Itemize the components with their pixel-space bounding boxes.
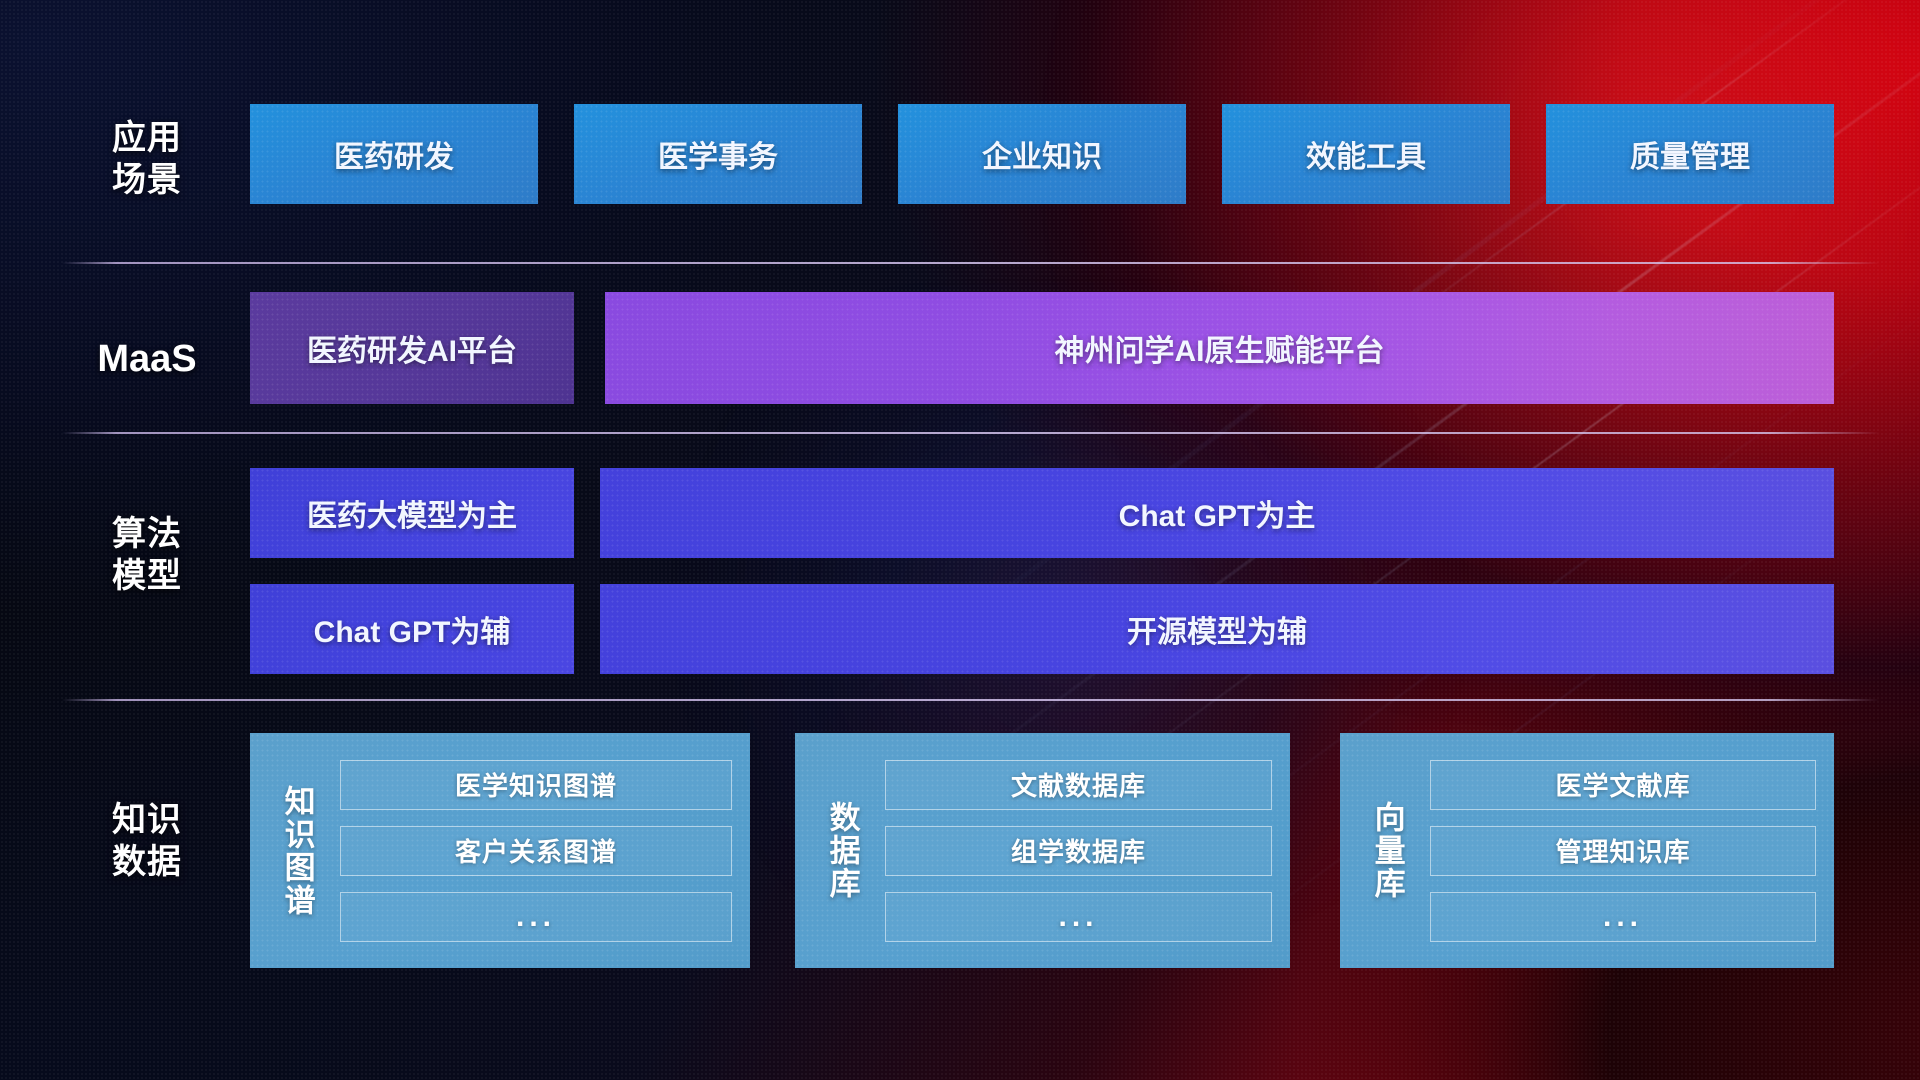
divider-application-maas [62, 262, 1880, 264]
row-label-application: 应用 场景 [62, 117, 232, 201]
row-label-line: 数据 [62, 841, 232, 883]
app-box-label: 医药研发 [334, 132, 454, 176]
architecture-diagram: 应用 场景 医药研发 医学事务 企业知识 效能工具 质量管理 MaaS 医药研发… [0, 0, 1920, 1080]
app-box-label: 质量管理 [1630, 132, 1750, 176]
maas-box-medicine-ai-platform[interactable]: 医药研发AI平台 [250, 292, 574, 404]
knowledge-item-more[interactable]: ... [1430, 892, 1816, 942]
app-box-label: 医学事务 [658, 132, 778, 176]
row-label-line: 知识 [62, 799, 232, 841]
row-label-algorithm: 算法 模型 [62, 513, 232, 597]
knowledge-item-more[interactable]: ... [885, 892, 1272, 942]
maas-box-shenzhou-platform[interactable]: 神州问学AI原生赋能平台 [605, 292, 1834, 404]
algo-box-label: Chat GPT为辅 [314, 607, 511, 651]
knowledge-group-knowledge-graph[interactable]: 知识图谱 医学知识图谱 客户关系图谱 ... [250, 733, 750, 968]
app-box-enterprise-knowledge[interactable]: 企业知识 [898, 104, 1186, 204]
algo-box-label: Chat GPT为主 [1119, 491, 1316, 535]
knowledge-group-items: 医学文献库 管理知识库 ... [1430, 747, 1816, 954]
knowledge-group-database[interactable]: 数据库 文献数据库 组学数据库 ... [795, 733, 1290, 968]
algo-box-opensource-secondary[interactable]: 开源模型为辅 [600, 584, 1834, 674]
knowledge-group-vector-store[interactable]: 向量库 医学文献库 管理知识库 ... [1340, 733, 1834, 968]
row-label-line: 应用 [62, 117, 232, 159]
app-box-medicine-rd[interactable]: 医药研发 [250, 104, 538, 204]
row-label-line: 模型 [62, 555, 232, 597]
app-box-efficiency-tools[interactable]: 效能工具 [1222, 104, 1510, 204]
knowledge-item[interactable]: 医学文献库 [1430, 760, 1816, 810]
maas-box-label: 医药研发AI平台 [307, 326, 517, 370]
knowledge-item[interactable]: 客户关系图谱 [340, 826, 732, 876]
knowledge-item[interactable]: 医学知识图谱 [340, 760, 732, 810]
row-label-maas: MaaS [62, 336, 232, 383]
knowledge-group-items: 文献数据库 组学数据库 ... [885, 747, 1272, 954]
algo-box-medicine-llm-primary[interactable]: 医药大模型为主 [250, 468, 574, 558]
maas-box-label: 神州问学AI原生赋能平台 [1055, 326, 1385, 370]
knowledge-item-more[interactable]: ... [340, 892, 732, 942]
knowledge-group-title: 知识图谱 [260, 785, 334, 917]
app-box-quality-management[interactable]: 质量管理 [1546, 104, 1834, 204]
algo-box-chatgpt-secondary[interactable]: Chat GPT为辅 [250, 584, 574, 674]
row-label-line: 算法 [62, 513, 232, 555]
row-label-line: 场景 [62, 159, 232, 201]
knowledge-group-title: 数据库 [805, 801, 879, 900]
algo-box-chatgpt-primary[interactable]: Chat GPT为主 [600, 468, 1834, 558]
row-label-knowledge: 知识 数据 [62, 799, 232, 883]
row-label-line: MaaS [62, 336, 232, 383]
divider-algorithm-knowledge [62, 699, 1880, 701]
knowledge-item[interactable]: 组学数据库 [885, 826, 1272, 876]
app-box-label: 企业知识 [982, 132, 1102, 176]
algo-box-label: 开源模型为辅 [1127, 607, 1307, 651]
knowledge-item[interactable]: 文献数据库 [885, 760, 1272, 810]
app-box-label: 效能工具 [1306, 132, 1426, 176]
divider-maas-algorithm [62, 432, 1880, 434]
knowledge-group-title: 向量库 [1350, 801, 1424, 900]
knowledge-group-items: 医学知识图谱 客户关系图谱 ... [340, 747, 732, 954]
algo-box-label: 医药大模型为主 [307, 491, 517, 535]
knowledge-item[interactable]: 管理知识库 [1430, 826, 1816, 876]
app-box-medical-affairs[interactable]: 医学事务 [574, 104, 862, 204]
